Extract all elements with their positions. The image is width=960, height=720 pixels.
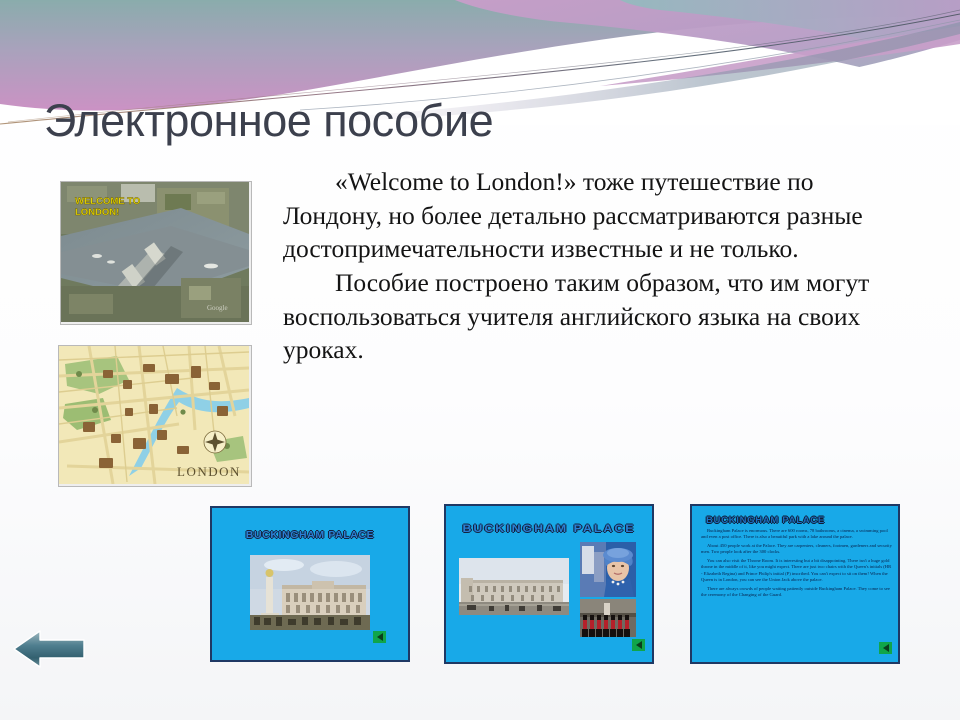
svg-text:WELCOME TO: WELCOME TO [75, 196, 140, 207]
thumb-3-body-text: Buckingham Palace is enormous. There are… [701, 528, 892, 601]
buckingham-palace-facade-image [459, 558, 569, 615]
t3-para-1: Buckingham Palace is enormous. There are… [701, 528, 892, 541]
thumb-2-title: BUCKINGHAM PALACE [444, 523, 654, 535]
t3-para-4: There are always crowds of people waitin… [701, 586, 892, 599]
presentation-slide: Электронное пособие «Welcome to London!»… [0, 0, 960, 720]
buckingham-palace-with-victoria-memorial-image [250, 555, 370, 630]
svg-text:LONDON!: LONDON! [75, 207, 119, 218]
illustrated-london-map[interactable]: LONDON [58, 345, 252, 487]
back-arrow-icon[interactable] [373, 631, 386, 643]
page-title: Электронное пособие [44, 95, 493, 147]
back-arrow-button[interactable] [10, 625, 88, 673]
slide-thumbnail-2[interactable]: BUCKINGHAM PALACE [444, 504, 654, 664]
back-arrow-icon[interactable] [632, 639, 645, 651]
body-paragraph-2: Пособие построено таким образом, что им … [283, 266, 903, 367]
aerial-photo-tower-bridge[interactable]: WELCOME TO LONDON! Google [60, 181, 252, 325]
svg-text:Google: Google [207, 304, 228, 312]
body-paragraph-1: «Welcome to London!» тоже путешествие по… [283, 165, 903, 266]
t3-para-2: About 450 people work at the Palace. The… [701, 543, 892, 556]
t3-para-3: You can also visit the Throne Room. It i… [701, 558, 892, 583]
back-arrow-icon[interactable] [879, 642, 892, 654]
slide-body-text: «Welcome to London!» тоже путешествие по… [283, 165, 903, 367]
slide-thumbnail-1[interactable]: BUCKINGHAM PALACE [210, 506, 410, 662]
slide-thumbnail-3[interactable]: BUCKINGHAM PALACE Buckingham Palace is e… [690, 504, 900, 664]
thumb-3-title: BUCKINGHAM PALACE [706, 515, 825, 526]
thumb-1-title: BUCKINGHAM PALACE [212, 529, 408, 541]
queen-elizabeth-in-blue-hat-image [580, 542, 636, 597]
svg-text:LONDON: LONDON [177, 464, 241, 479]
changing-of-the-guard-parade-image [580, 599, 636, 637]
